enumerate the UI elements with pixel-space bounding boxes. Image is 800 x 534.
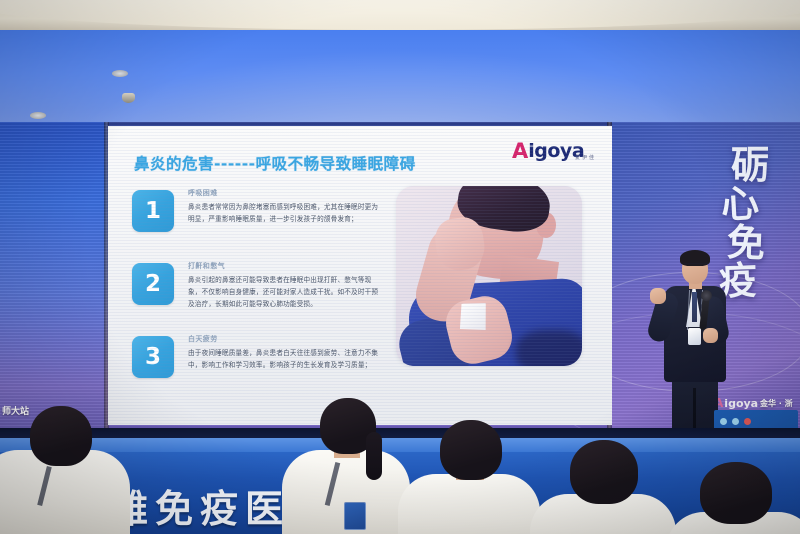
audience-ponytail (366, 432, 382, 480)
ceiling-spotlight-icon (112, 70, 128, 77)
point-heading: 打鼾和憋气 (188, 261, 382, 271)
signboard-dot-icon (744, 418, 751, 425)
slide-brand-logo: A igoya (512, 136, 598, 166)
ceiling (0, 0, 800, 34)
slide-points-list: 1 呼吸困难 鼻炎患者常常因为鼻腔堵塞而感到呼吸困难，尤其在睡眠时更为明显，严重… (132, 188, 382, 407)
list-item: 2 打鼾和憋气 鼻炎引起的鼻塞还可能导致患者在睡眠中出现打鼾、憋气等现象，不仅影… (132, 261, 382, 323)
audience-head (570, 440, 638, 504)
calligraphy-char: 心 (707, 183, 773, 225)
photo-shadow (516, 330, 582, 366)
audience-member (0, 404, 150, 534)
point-heading: 呼吸困难 (188, 188, 382, 198)
slide-photo (396, 186, 582, 366)
presentation-slide: 鼻炎的危害------呼吸不畅导致睡眠障碍 A igoya 爱伊佳 1 呼吸困难… (108, 126, 612, 425)
list-item: 1 呼吸困难 鼻炎患者常常因为鼻腔堵塞而感到呼吸困难，尤其在睡眠时更为明显，严重… (132, 188, 382, 250)
signboard-dot-icon (720, 418, 727, 425)
ceiling-spotlight-icon (30, 112, 46, 119)
logo-subtitle: 爱伊佳 (575, 154, 596, 161)
audience-head (440, 420, 502, 480)
point-number-badge: 2 (132, 263, 174, 305)
point-number-badge: 1 (132, 190, 174, 232)
signboard-logos (720, 418, 751, 425)
conference-scene: 砺 心 免 疫 A igoya 金华 · 浙 师大站 鼻炎的危害------呼吸… (0, 0, 800, 534)
audience-head (700, 462, 772, 524)
list-item: 3 白天疲劳 由于夜间睡眠质量差，鼻炎患者白天往往感到疲劳、注意力不集中，影响工… (132, 334, 382, 396)
glasses-icon (683, 263, 708, 268)
logo-mark: A (512, 141, 528, 162)
audience-member (530, 440, 680, 534)
led-city-text: 金华 · 浙 (760, 398, 793, 409)
ceiling-speaker-icon (122, 93, 135, 103)
audience-badge-card (344, 502, 366, 530)
calligraphy-char: 砺 (718, 146, 782, 185)
point-number-badge: 3 (132, 336, 174, 378)
signboard-dot-icon (732, 418, 739, 425)
point-body: 由于夜间睡眠质量差，鼻炎患者白天往往感到疲劳、注意力不集中，影响工作和学习效率。… (188, 347, 382, 371)
slide-title: 鼻炎的危害------呼吸不畅导致睡眠障碍 (134, 152, 416, 174)
presenter-badge (688, 328, 701, 345)
audience-head (30, 406, 92, 466)
point-heading: 白天疲劳 (188, 334, 382, 344)
presenter (648, 250, 740, 434)
audience-member (398, 418, 548, 534)
led-wall-left-panel (0, 122, 108, 434)
audience-shoulders (398, 474, 540, 534)
audience-member (666, 462, 800, 534)
presenter-fist (650, 288, 666, 304)
presenter-right-hand (703, 328, 718, 343)
point-body: 鼻炎引起的鼻塞还可能导致患者在睡眠中出现打鼾、憋气等现象，不仅影响自身健康，还可… (188, 274, 382, 311)
point-body: 鼻炎患者常常因为鼻腔堵塞而感到呼吸困难，尤其在睡眠时更为明显，严重影响睡眠质量，… (188, 201, 382, 225)
